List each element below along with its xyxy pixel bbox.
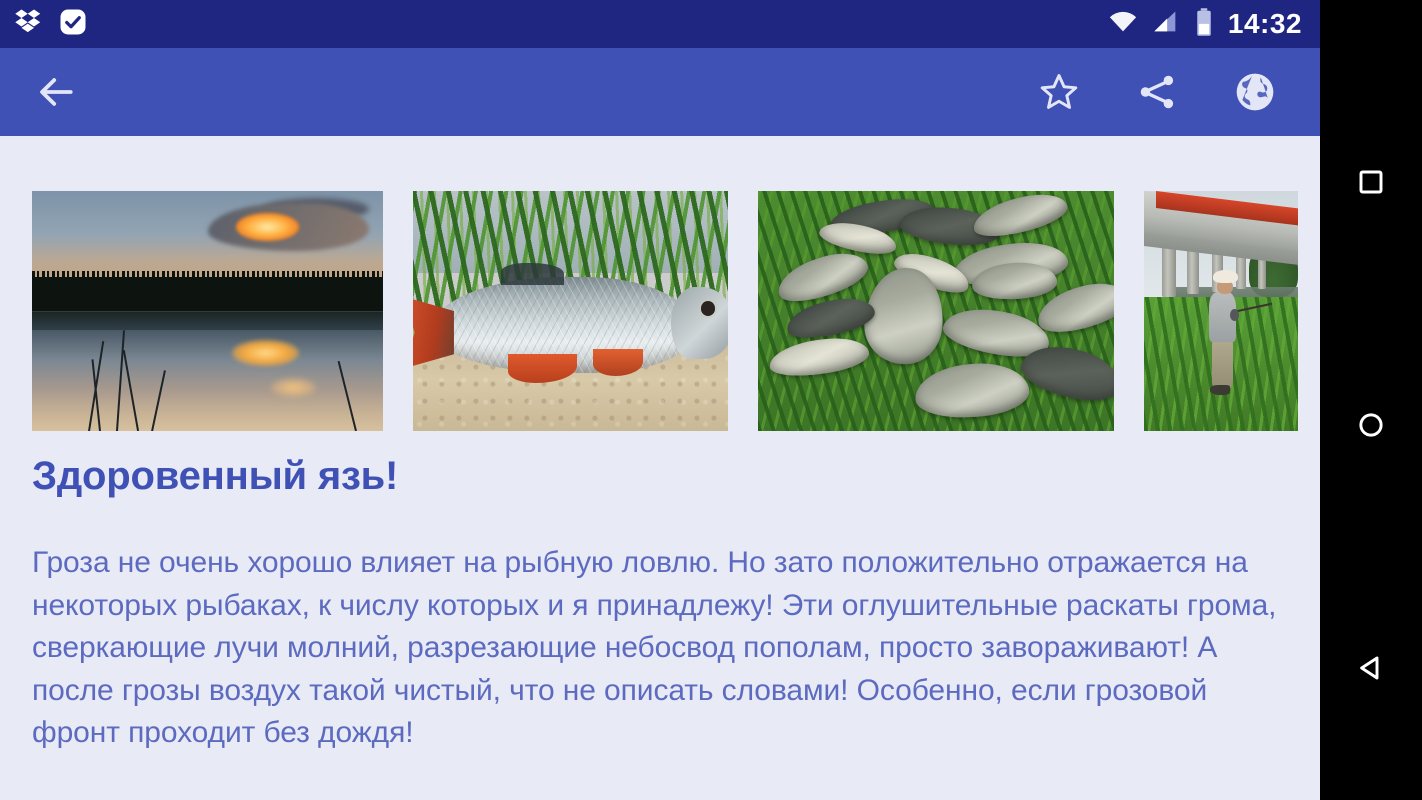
screen-root: 14:32 [0, 0, 1422, 800]
fish-head [671, 287, 728, 359]
article-headline: Здоровенный язь! [32, 454, 1290, 498]
checkmark-badge-icon [58, 7, 88, 42]
fisherman-boot [1210, 385, 1230, 395]
status-bar: 14:32 [0, 0, 1320, 48]
photo-catch-of-bream[interactable] [758, 191, 1114, 431]
back-arrow-icon[interactable] [30, 66, 82, 118]
app-bar [0, 48, 1320, 136]
recents-square-icon[interactable] [1349, 160, 1393, 204]
android-navigation-bar [1320, 0, 1422, 800]
cellular-signal-icon [1152, 8, 1180, 41]
article-paragraph: Гроза не очень хорошо влияет на рыбную л… [32, 542, 1290, 755]
battery-icon [1194, 7, 1214, 42]
share-icon[interactable] [1134, 69, 1180, 115]
status-bar-clock: 14:32 [1228, 10, 1302, 38]
status-bar-notifications [0, 7, 88, 42]
article-body: Здоровенный язь! Гроза не очень хорошо в… [32, 454, 1290, 755]
sunset-treeline-reflection [32, 311, 383, 330]
photo-gallery[interactable] [32, 191, 1320, 431]
article-content: Здоровенный язь! Гроза не очень хорошо в… [0, 136, 1320, 800]
home-circle-icon[interactable] [1349, 403, 1393, 447]
fisherman-hat [1213, 270, 1238, 283]
favorite-star-icon[interactable] [1036, 69, 1082, 115]
sunset-sun-reflection [232, 340, 299, 366]
fish-dorsal-fin [501, 263, 564, 285]
photo-sunset-lake[interactable] [32, 191, 383, 431]
sunset-sun [236, 213, 299, 242]
sunset-treeline [32, 277, 383, 311]
dropbox-icon [14, 7, 44, 42]
photo-fisherman-under-bridge[interactable] [1144, 191, 1298, 431]
fisherman-legs [1212, 340, 1234, 388]
status-bar-system-icons: 14:32 [1108, 7, 1320, 42]
back-triangle-icon[interactable] [1349, 646, 1393, 690]
phone-screen: 14:32 [0, 0, 1320, 800]
wifi-icon [1108, 7, 1138, 42]
open-in-browser-globe-icon[interactable] [1232, 69, 1278, 115]
photo-ide-fish-on-sand[interactable] [413, 191, 728, 431]
app-bar-actions [1036, 69, 1320, 115]
